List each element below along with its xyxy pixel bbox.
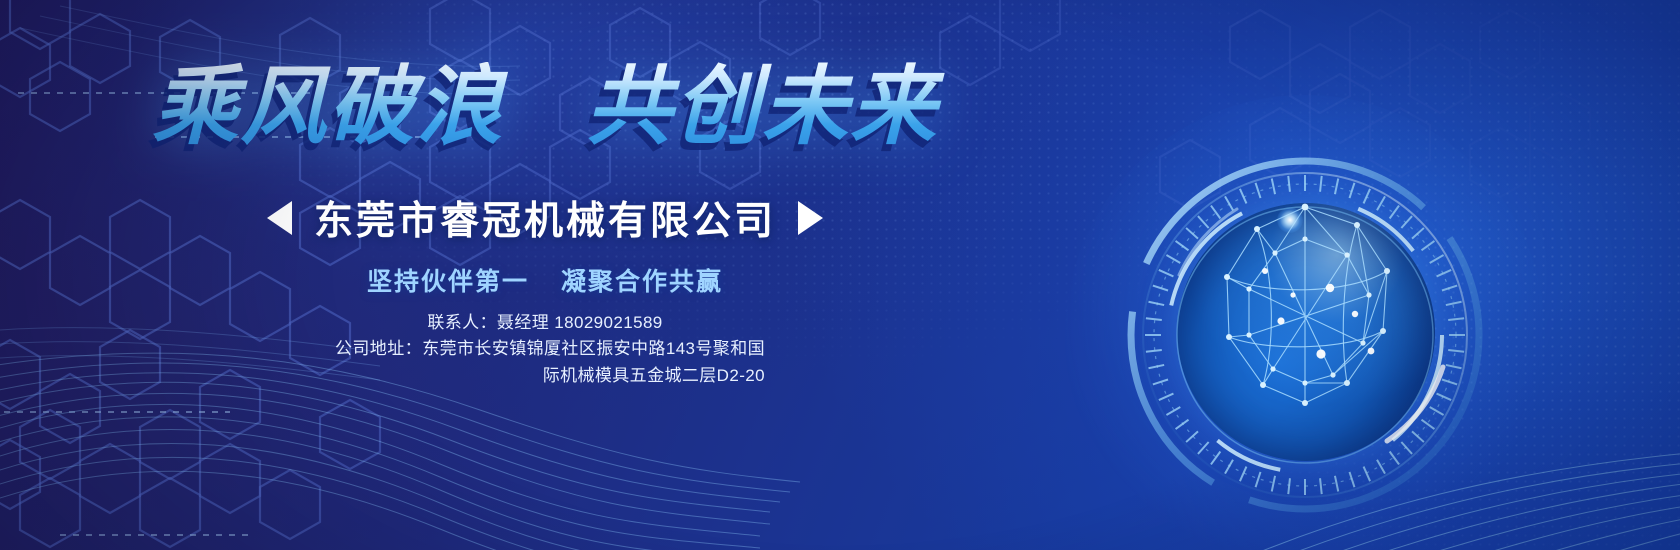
headline-part1: 乘风破浪 <box>152 59 504 155</box>
slogan-part1: 坚持伙伴第一 <box>367 268 529 296</box>
page-title: 乘风破浪 共创未来 <box>0 62 1090 152</box>
contact-block: 联系人：聂经理 18029021589 公司地址： 东莞市长安镇锦厦社区振安中路… <box>0 310 1090 389</box>
contact-person-line: 联系人：聂经理 18029021589 <box>0 310 1090 336</box>
text-content: 乘风破浪 共创未来 东莞市睿冠机械有限公司 坚持伙伴第一 凝聚合作共赢 联系人：… <box>0 0 1090 550</box>
slogan: 坚持伙伴第一 凝聚合作共赢 <box>0 262 1090 298</box>
right-triangle-icon <box>798 201 823 235</box>
slogan-part2: 凝聚合作共赢 <box>561 268 723 296</box>
network-globe-graphic <box>1125 155 1485 515</box>
globe-rings-and-network <box>1125 155 1485 515</box>
headline-part2: 共创未来 <box>586 59 938 155</box>
left-triangle-icon <box>267 201 292 235</box>
address-label: 公司地址： <box>335 336 422 362</box>
promo-banner: 乘风破浪 共创未来 东莞市睿冠机械有限公司 坚持伙伴第一 凝聚合作共赢 联系人：… <box>0 0 1680 550</box>
globe-highlight <box>1277 207 1303 233</box>
company-address-line: 公司地址： 东莞市长安镇锦厦社区振安中路143号聚和国际机械模具五金城二层D2-… <box>325 336 765 389</box>
company-name: 东莞市睿冠机械有限公司 <box>314 190 776 246</box>
company-name-row: 东莞市睿冠机械有限公司 <box>0 190 1090 246</box>
